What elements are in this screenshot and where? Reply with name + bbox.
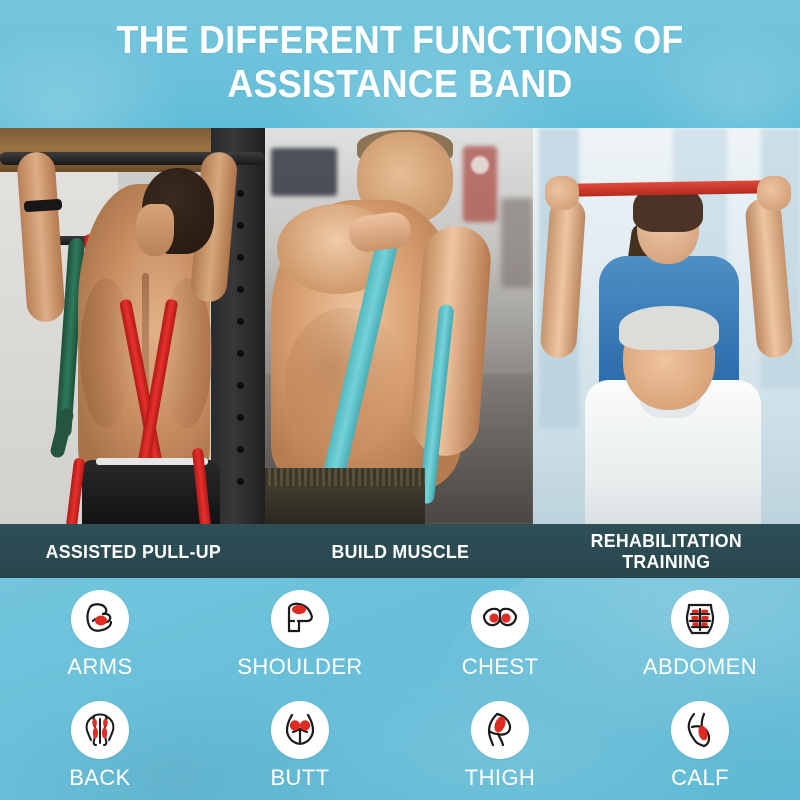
muscle-item-abdomen[interactable]: ABDOMEN (600, 578, 800, 689)
muscle-label-back: BACK (69, 766, 131, 790)
flexed-bicep-icon (71, 590, 129, 648)
photo-strip (0, 128, 800, 524)
muscle-label-chest: CHEST (462, 655, 539, 679)
muscle-item-arms[interactable]: ARMS (0, 578, 200, 689)
glutes-icon (271, 701, 329, 759)
calf-muscle-icon (671, 701, 729, 759)
photo2-bg-screen (271, 148, 337, 196)
photo3-hand-right (757, 176, 791, 210)
caption-build-muscle: BUILD MUSCLE (272, 541, 528, 562)
muscle-label-shoulder: SHOULDER (237, 655, 362, 679)
muscle-label-abdomen: ABDOMEN (643, 655, 757, 679)
header-banner: THE DIFFERENT FUNCTIONS OF ASSISTANCE BA… (0, 0, 800, 128)
muscle-item-shoulder[interactable]: SHOULDER (200, 578, 400, 689)
caption-rehab-line-1: REHABILITATION (591, 530, 742, 551)
caption-assisted-pull-up: ASSISTED PULL-UP (5, 541, 261, 562)
muscle-item-back[interactable]: BACK (0, 689, 200, 800)
photo3-hand-left (545, 176, 579, 210)
photo2-bg-equipment (501, 198, 533, 288)
photo2-bg-sign (471, 156, 489, 174)
muscle-group-grid: ARMS (0, 578, 800, 800)
thigh-quadriceps-icon (471, 701, 529, 759)
assisted-pull-up-photo (0, 128, 265, 524)
muscle-item-thigh[interactable]: THIGH (400, 689, 600, 800)
muscle-label-calf: CALF (671, 766, 729, 790)
abdominal-abs-icon (671, 590, 729, 648)
caption-rehab-line-2: TRAINING (623, 551, 711, 572)
chest-pectorals-icon (471, 590, 529, 648)
assistance-band-infographic: THE DIFFERENT FUNCTIONS OF ASSISTANCE BA… (0, 0, 800, 800)
muscle-item-chest[interactable]: CHEST (400, 578, 600, 689)
caption-rehabilitation-training: REHABILITATION TRAINING (539, 530, 795, 572)
caption-bar: ASSISTED PULL-UP BUILD MUSCLE REHABILITA… (0, 524, 800, 578)
page-title: THE DIFFERENT FUNCTIONS OF ASSISTANCE BA… (32, 19, 768, 107)
shoulder-icon (271, 590, 329, 648)
muscle-label-arms: ARMS (67, 655, 132, 679)
muscle-item-butt[interactable]: BUTT (200, 689, 400, 800)
muscle-label-butt: BUTT (270, 766, 329, 790)
photo3-patient-hair (619, 306, 719, 350)
muscle-label-thigh: THIGH (465, 766, 535, 790)
photo1-waistband (96, 458, 208, 465)
back-muscles-icon (71, 701, 129, 759)
photo1-face (136, 204, 174, 256)
build-muscle-photo (265, 128, 533, 524)
photo2-waistband (265, 468, 425, 486)
muscle-item-calf[interactable]: CALF (600, 689, 800, 800)
title-line-1: THE DIFFERENT FUNCTIONS OF (117, 19, 684, 62)
rehabilitation-photo (533, 128, 800, 524)
title-line-2: ASSISTANCE BAND (32, 63, 768, 107)
